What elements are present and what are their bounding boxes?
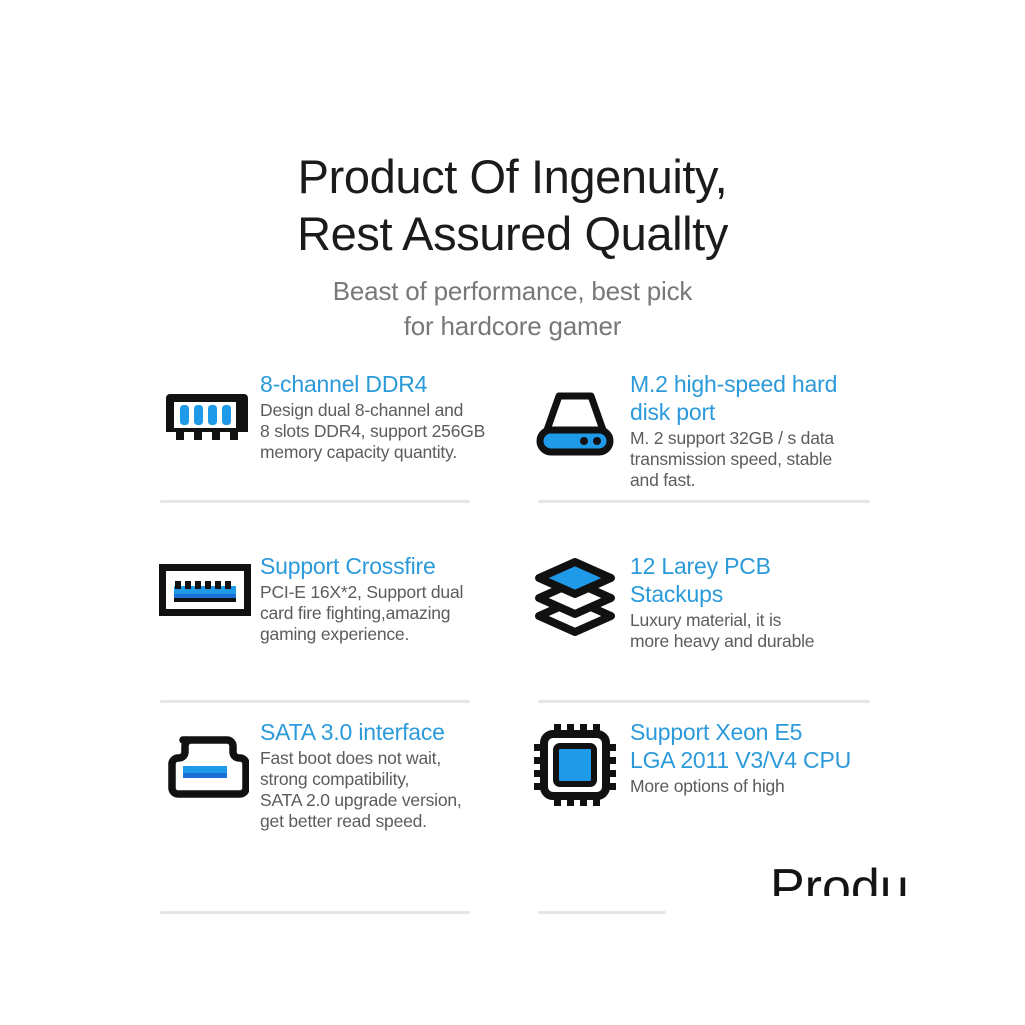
feature-text: Support Xeon E5 LGA 2011 V3/V4 CPU More … (630, 716, 857, 797)
feature-title: M.2 high-speed hard disk port (630, 370, 837, 426)
feature-card-pcb: 12 Larey PCB Stackups Luxury material, i… (520, 550, 890, 698)
feature-title: 8-channel DDR4 (260, 370, 485, 398)
layers-stack-icon (520, 550, 630, 636)
sata-port-icon (150, 716, 260, 800)
feature-description: Luxury material, it is more heavy and du… (630, 610, 814, 652)
divider-right-2 (538, 700, 870, 703)
page-subtitle: Beast of performance, best pick for hard… (0, 274, 1025, 344)
feature-description: PCI-E 16X*2, Support dual card fire figh… (260, 582, 463, 645)
feature-text: M.2 high-speed hard disk port M. 2 suppo… (630, 368, 843, 491)
divider-left-2 (160, 700, 470, 703)
feature-grid: 8-channel DDR4 Design dual 8-channel and… (150, 368, 890, 898)
product-feature-infographic: Product Of Ingenuity, Rest Assured Quall… (0, 0, 1025, 1025)
divider-left-1 (160, 500, 470, 503)
feature-card-m2: M.2 high-speed hard disk port M. 2 suppo… (520, 368, 890, 500)
feature-title: Support Xeon E5 LGA 2011 V3/V4 CPU (630, 718, 851, 774)
feature-description: More options of high (630, 776, 851, 797)
feature-description: M. 2 support 32GB / s data transmission … (630, 428, 837, 491)
feature-title: SATA 3.0 interface (260, 718, 462, 746)
feature-card-crossfire: Support Crossfire PCI-E 16X*2, Support d… (150, 550, 520, 698)
feature-text: 8-channel DDR4 Design dual 8-channel and… (260, 368, 491, 463)
feature-text: Support Crossfire PCI-E 16X*2, Support d… (260, 550, 469, 645)
clipped-footer-text: Produ (770, 862, 909, 896)
feature-title: Support Crossfire (260, 552, 463, 580)
hard-disk-icon (520, 368, 630, 460)
feature-description: Design dual 8-channel and 8 slots DDR4, … (260, 400, 485, 463)
feature-card-sata: SATA 3.0 interface Fast boot does not wa… (150, 716, 520, 898)
feature-description: Fast boot does not wait, strong compatib… (260, 748, 462, 832)
feature-text: SATA 3.0 interface Fast boot does not wa… (260, 716, 468, 832)
divider-right-3 (538, 911, 666, 914)
feature-title: 12 Larey PCB Stackups (630, 552, 814, 608)
cpu-chip-icon (520, 716, 630, 806)
feature-card-ddr4: 8-channel DDR4 Design dual 8-channel and… (150, 368, 520, 500)
feature-row: 8-channel DDR4 Design dual 8-channel and… (150, 368, 890, 500)
ram-module-icon (150, 368, 260, 454)
divider-right-1 (538, 500, 870, 503)
feature-row: Support Crossfire PCI-E 16X*2, Support d… (150, 500, 890, 698)
divider-left-3 (160, 911, 470, 914)
usb-port-icon (150, 550, 260, 616)
feature-text: 12 Larey PCB Stackups Luxury material, i… (630, 550, 820, 652)
header: Product Of Ingenuity, Rest Assured Quall… (0, 148, 1025, 344)
page-title: Product Of Ingenuity, Rest Assured Quall… (0, 148, 1025, 262)
